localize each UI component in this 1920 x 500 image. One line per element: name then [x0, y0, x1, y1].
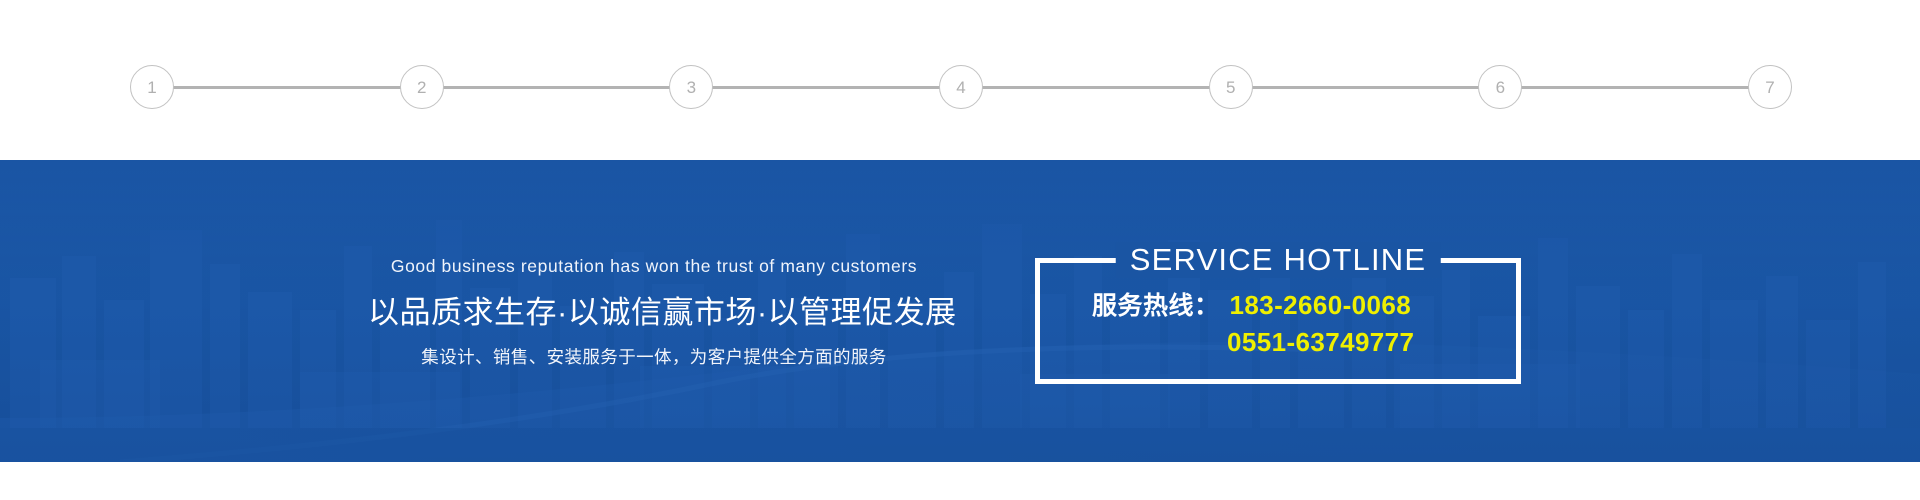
slogan-english-line: Good business reputation has won the tru… [368, 256, 940, 277]
service-hotline-box: SERVICE HOTLINE 服务热线： 183-2660-0068 0551… [1035, 258, 1521, 384]
step-label: 7 [1765, 79, 1774, 96]
slogan-chinese-headline: 以品质求生存·以诚信赢市场·以管理促发展 [368, 294, 940, 331]
slogan-block: Good business reputation has won the tru… [368, 256, 940, 368]
hotline-row-secondary: 0551-63749777 [1040, 327, 1516, 359]
step-label: 1 [147, 79, 156, 96]
hotline-phone-secondary[interactable]: 0551-63749777 [1227, 327, 1414, 359]
hotline-phone-primary[interactable]: 183-2660-0068 [1230, 290, 1412, 322]
step-node-7[interactable]: 7 [1748, 65, 1792, 109]
step-label: 2 [417, 79, 426, 96]
step-node-4[interactable]: 4 [939, 65, 983, 109]
step-label: 4 [956, 79, 965, 96]
banner-color-overlay [0, 160, 1920, 462]
slogan-chinese-subline: 集设计、销售、安装服务于一体，为客户提供全方面的服务 [368, 347, 940, 368]
step-node-3[interactable]: 3 [669, 65, 713, 109]
service-hotline-title: SERVICE HOTLINE [1116, 242, 1441, 278]
stepper-strip: 1 2 3 4 5 6 7 [0, 0, 1920, 160]
step-label: 6 [1496, 79, 1505, 96]
bottom-white-strip [0, 462, 1920, 500]
hotline-number-list: 服务热线： 183-2660-0068 0551-63749777 [1040, 290, 1516, 358]
step-node-6[interactable]: 6 [1478, 65, 1522, 109]
step-node-5[interactable]: 5 [1209, 65, 1253, 109]
hotline-label: 服务热线： [1092, 291, 1220, 322]
step-label: 3 [687, 79, 696, 96]
step-node-2[interactable]: 2 [400, 65, 444, 109]
promo-banner: Good business reputation has won the tru… [0, 160, 1920, 462]
step-label: 5 [1226, 79, 1235, 96]
step-node-1[interactable]: 1 [130, 65, 174, 109]
hotline-row-primary: 服务热线： 183-2660-0068 [1040, 290, 1516, 322]
